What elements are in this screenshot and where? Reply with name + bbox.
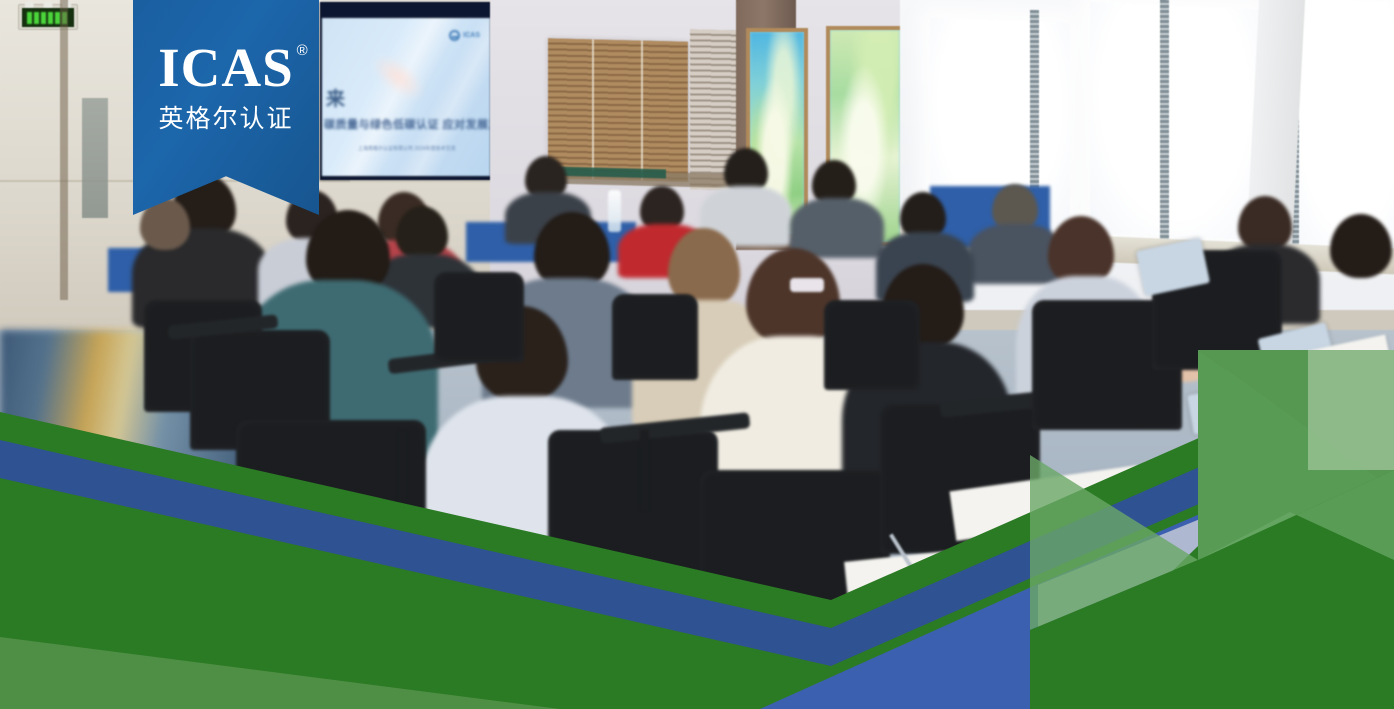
conference-chair — [612, 294, 698, 380]
icas-wordmark-text: ICAS — [158, 37, 293, 98]
conference-chair — [548, 430, 718, 580]
hair-clip — [790, 278, 824, 292]
icas-chinese-name: 英格尔认证 — [158, 99, 293, 135]
chair-leg — [640, 430, 649, 510]
attendee-head — [396, 206, 448, 260]
attendee-head — [1330, 214, 1392, 278]
conference-chair — [434, 272, 524, 362]
chair-leg — [398, 432, 407, 502]
icas-wordmark: ICAS ® — [158, 42, 293, 95]
banner-canvas: ICAS 来 碳质量与绿色低碳认证 应对发展之路 上海英格尔认证有限公司 202… — [0, 0, 1394, 709]
conference-chair — [824, 300, 920, 390]
registered-trademark-icon: ® — [297, 44, 309, 58]
